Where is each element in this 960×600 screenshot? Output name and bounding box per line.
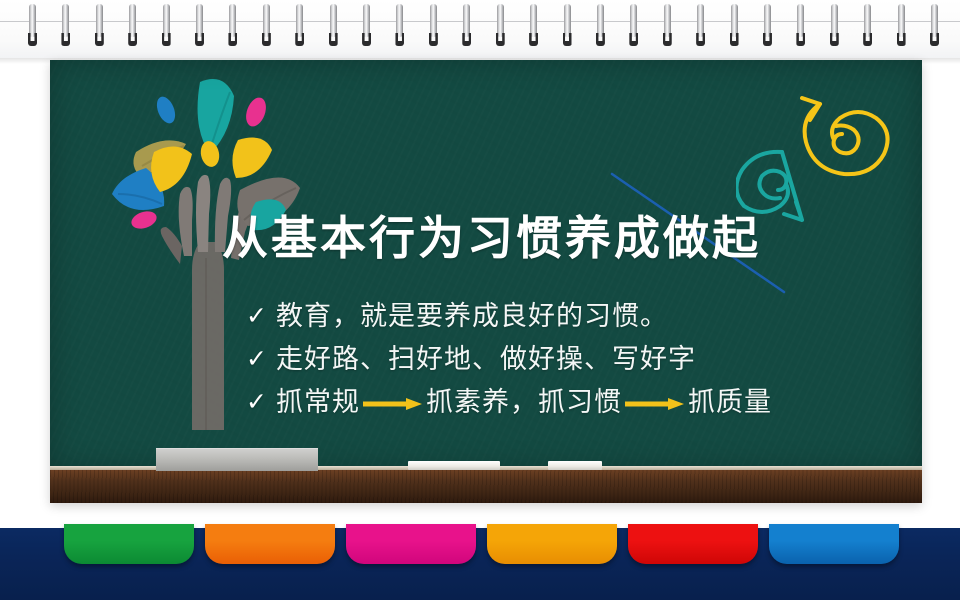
spiral-binding-ring [863,4,872,46]
ring-shaft [229,4,236,37]
teal-spiral-icon [736,152,802,220]
ring-shaft [129,4,136,37]
spiral-binding-ring [496,4,505,46]
ring-shaft [630,4,637,37]
ring-shaft [697,4,704,37]
check-icon: ✓ [246,347,276,372]
footer-bar [0,528,960,600]
spiral-binding-ring [462,4,471,46]
ring-shaft [797,4,804,37]
bullet-list: ✓ 教育，就是要养成良好的习惯。 ✓ 走好路、扫好地、做好操、写好字 ✓ 抓常规… [246,303,922,432]
ring-shaft [864,4,871,37]
check-icon: ✓ [246,304,276,329]
spiral-binding-ring [696,4,705,46]
spiral-binding-ring [329,4,338,46]
bullet-segment-3: 抓质量 [688,389,772,416]
spiral-binding-ring [61,4,70,46]
ring-shaft [330,4,337,37]
spiral-binding-ring [128,4,137,46]
ring-shaft [96,4,103,37]
chalk-eraser-icon [156,448,318,471]
spiral-binding-ring [897,4,906,46]
spiral-binding-ring [796,4,805,46]
list-item: ✓ 走好路、扫好地、做好操、写好字 [246,346,922,373]
spiral-binding-ring [596,4,605,46]
slide-title: 从基本行为习惯养成做起 [222,212,842,265]
right-arrow-icon [362,397,424,411]
spiral-binding-ring [362,4,371,46]
ring-shaft [163,4,170,37]
spiral-binding-ring [195,4,204,46]
yellow-spiral-icon [802,98,888,174]
ring-shaft [62,4,69,37]
spiral-binding-ring [663,4,672,46]
ring-shaft [29,4,36,37]
ring-shaft [497,4,504,37]
slide-canvas: 从基本行为习惯养成做起 ✓ 教育，就是要养成良好的习惯。 ✓ 走好路、扫好地、做… [0,0,960,600]
chalk-stick-icon [408,461,500,470]
ring-shaft [263,4,270,37]
list-item: ✓ 教育，就是要养成良好的习惯。 [246,303,922,330]
tab-orange[interactable] [205,524,335,564]
spiral-binding-ring [529,4,538,46]
tab-amber[interactable] [487,524,617,564]
spiral-binding-ring [763,4,772,46]
chalk-tray [50,470,922,503]
ring-shaft [597,4,604,37]
spiral-binding-ring [95,4,104,46]
ring-shaft [931,4,938,37]
ring-shaft [831,4,838,37]
chalkboard-frame: 从基本行为习惯养成做起 ✓ 教育，就是要养成良好的习惯。 ✓ 走好路、扫好地、做… [50,60,922,503]
check-icon: ✓ [246,390,276,415]
ring-shaft [196,4,203,37]
ring-shaft [898,4,905,37]
bullet-segment-1: 抓常规 [276,389,360,416]
ring-shaft [731,4,738,37]
tab-red[interactable] [628,524,758,564]
list-item: ✓ 抓常规 抓素养，抓习惯 抓质量 [246,389,922,416]
bullet-text-2: 走好路、扫好地、做好操、写好字 [276,346,696,373]
spiral-binding-ring [429,4,438,46]
ring-shaft [296,4,303,37]
spiral-binding-ring [629,4,638,46]
bullet-text-1: 教育，就是要养成良好的习惯。 [276,303,668,330]
spiral-binding-ring [295,4,304,46]
spiral-binding-ring [162,4,171,46]
bullet-segment-2: 抓素养，抓习惯 [426,389,622,416]
spiral-binding-ring [730,4,739,46]
spiral-binding-ring [395,4,404,46]
spiral-binding-ring [830,4,839,46]
spiral-binding-ring [228,4,237,46]
ring-shaft [363,4,370,37]
ring-shaft [530,4,537,37]
ring-shaft [564,4,571,37]
chalkboard-surface: 从基本行为习惯养成做起 ✓ 教育，就是要养成良好的习惯。 ✓ 走好路、扫好地、做… [50,60,922,470]
right-arrow-icon [624,397,686,411]
ring-shaft [764,4,771,37]
spiral-binding [0,0,960,58]
spiral-binding-ring [930,4,939,46]
ring-shaft [430,4,437,37]
ring-shaft [664,4,671,37]
ring-shaft [463,4,470,37]
tab-blue[interactable] [769,524,899,564]
spiral-binding-ring [262,4,271,46]
spiral-binding-ring [563,4,572,46]
chalk-stick-icon [548,461,602,470]
tab-magenta[interactable] [346,524,476,564]
binding-rail [0,21,960,22]
tab-green[interactable] [64,524,194,564]
ring-shaft [396,4,403,37]
spiral-binding-ring [28,4,37,46]
